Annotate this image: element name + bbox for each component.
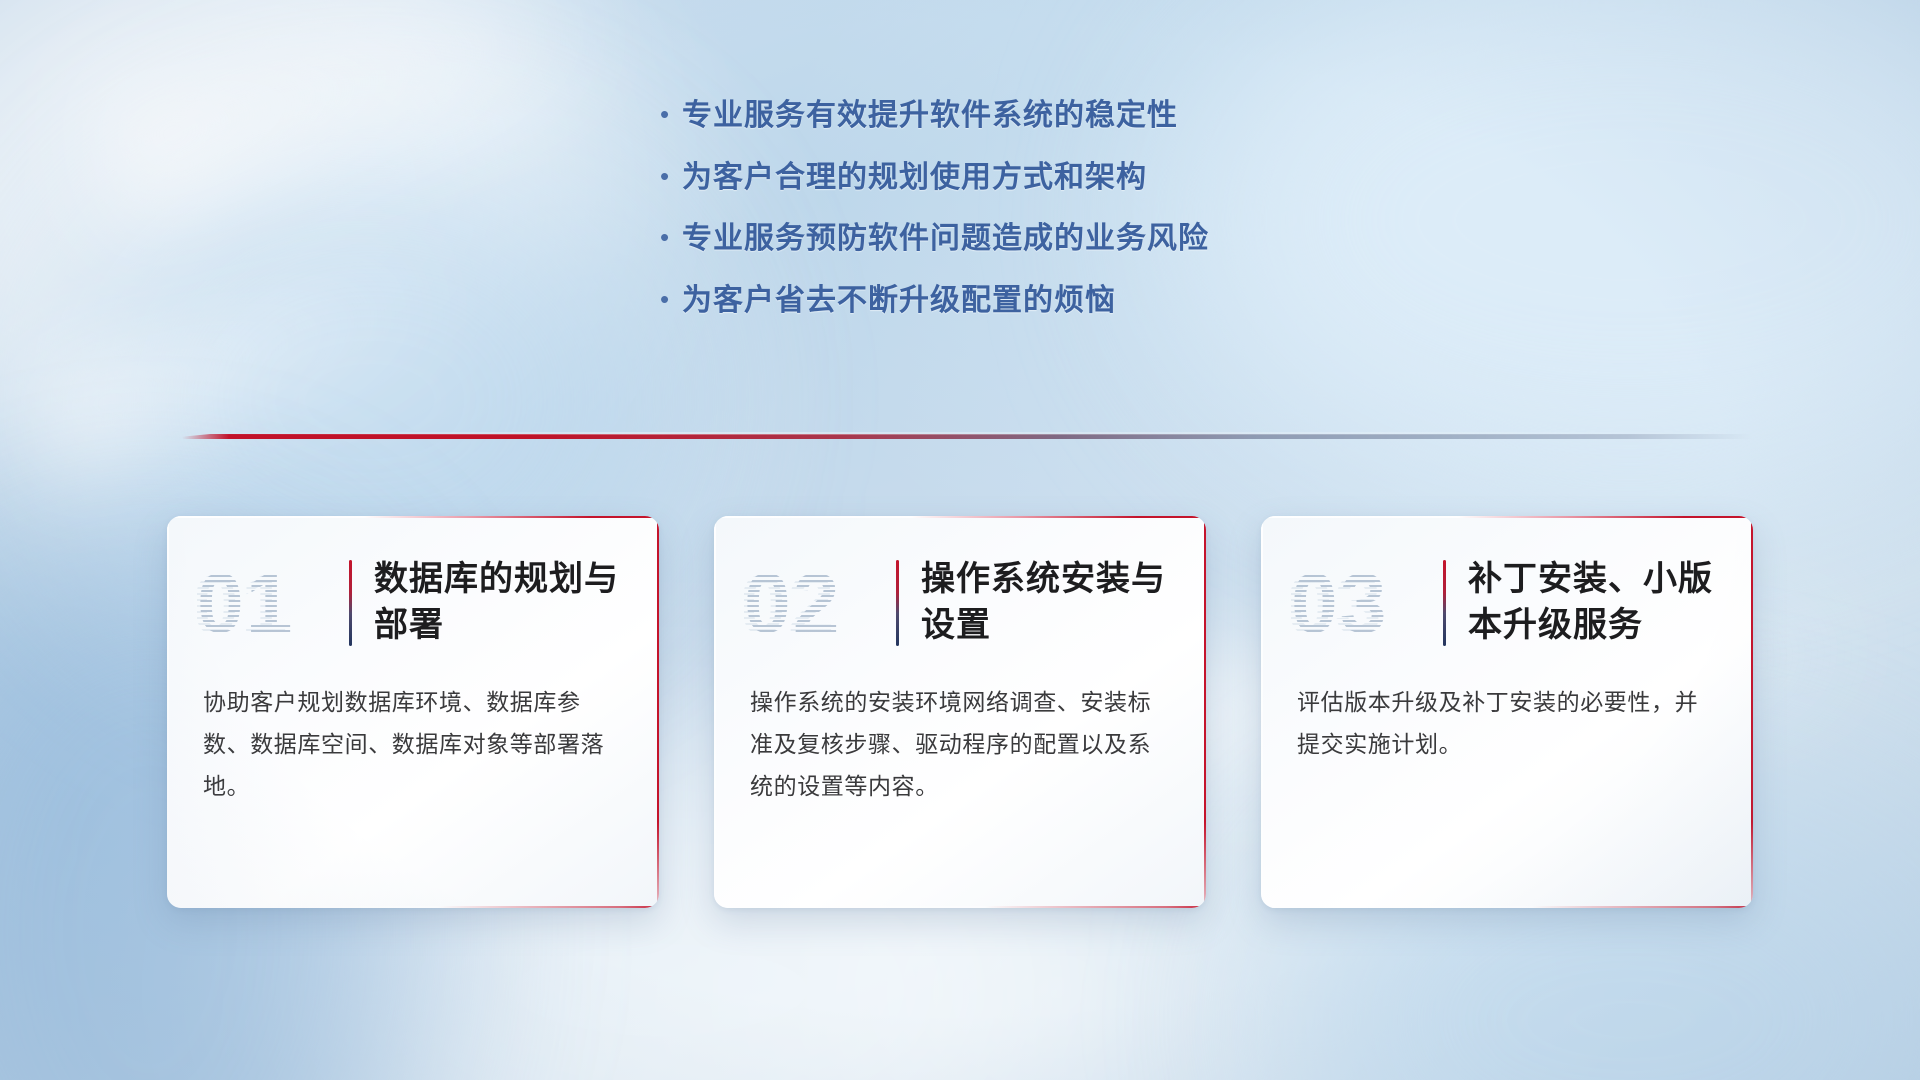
card-description: 协助客户规划数据库环境、数据库参数、数据库空间、数据库对象等部署落地。 bbox=[167, 654, 659, 808]
card-description: 评估版本升级及补丁安装的必要性，并提交实施计划。 bbox=[1261, 654, 1753, 766]
card-accent-bar bbox=[1443, 560, 1446, 646]
background-streak-1 bbox=[79, 0, 620, 229]
card-edge-bottom bbox=[714, 906, 1206, 908]
card-header: 02 02 操作系统安装与设置 bbox=[714, 516, 1206, 654]
slide-canvas: • 专业服务有效提升软件系统的稳定性 • 为客户合理的规划使用方式和架构 • 专… bbox=[0, 0, 1920, 1080]
background-blob-1 bbox=[0, 0, 590, 500]
bullet-item: • 为客户省去不断升级配置的烦恼 bbox=[660, 281, 1460, 321]
card-number-graphic: 02 02 bbox=[744, 555, 892, 651]
bullet-item: • 专业服务预防软件问题造成的业务风险 bbox=[660, 219, 1460, 259]
card-number-graphic: 03 03 bbox=[1291, 555, 1439, 651]
card-edge-bottom bbox=[167, 906, 659, 908]
benefits-bullet-list: • 专业服务有效提升软件系统的稳定性 • 为客户合理的规划使用方式和架构 • 专… bbox=[660, 96, 1460, 342]
section-divider bbox=[182, 430, 1752, 442]
card-edge-bottom bbox=[1261, 906, 1753, 908]
card-accent-bar bbox=[349, 560, 352, 646]
bullet-item: • 专业服务有效提升软件系统的稳定性 bbox=[660, 96, 1460, 136]
card-number-main: 02 bbox=[744, 555, 841, 651]
bullet-marker-icon: • bbox=[660, 163, 682, 189]
card-number-main: 03 bbox=[1291, 555, 1388, 651]
bullet-text: 专业服务有效提升软件系统的稳定性 bbox=[682, 96, 1178, 136]
card-title: 操作系统安装与设置 bbox=[921, 557, 1178, 648]
card-header: 01 01 数据库的规划与部署 bbox=[167, 516, 659, 654]
service-card[interactable]: 01 01 数据库的规划与部署 协助客户规划数据库环境、数据库参数、数据库空间、… bbox=[167, 516, 659, 908]
service-card[interactable]: 03 03 补丁安装、小版本升级服务 评估版本升级及补丁安装的必要性，并提交实施… bbox=[1261, 516, 1753, 908]
bullet-text: 为客户省去不断升级配置的烦恼 bbox=[682, 281, 1116, 321]
card-accent-bar bbox=[896, 560, 899, 646]
bullet-marker-icon: • bbox=[660, 286, 682, 312]
card-title: 补丁安装、小版本升级服务 bbox=[1468, 557, 1725, 648]
card-number-main: 01 bbox=[197, 555, 294, 651]
card-header: 03 03 补丁安装、小版本升级服务 bbox=[1261, 516, 1753, 654]
divider-gloss bbox=[182, 432, 1752, 435]
bullet-marker-icon: • bbox=[660, 101, 682, 127]
service-card[interactable]: 02 02 操作系统安装与设置 操作系统的安装环境网络调查、安装标准及复核步骤、… bbox=[714, 516, 1206, 908]
card-number-graphic: 01 01 bbox=[197, 555, 345, 651]
service-card-row: 01 01 数据库的规划与部署 协助客户规划数据库环境、数据库参数、数据库空间、… bbox=[0, 516, 1920, 908]
card-description: 操作系统的安装环境网络调查、安装标准及复核步骤、驱动程序的配置以及系统的设置等内… bbox=[714, 654, 1206, 808]
bullet-item: • 为客户合理的规划使用方式和架构 bbox=[660, 158, 1460, 198]
bullet-text: 专业服务预防软件问题造成的业务风险 bbox=[682, 219, 1209, 259]
bullet-text: 为客户合理的规划使用方式和架构 bbox=[682, 158, 1147, 198]
card-title: 数据库的规划与部署 bbox=[374, 557, 631, 648]
bullet-marker-icon: • bbox=[660, 224, 682, 250]
